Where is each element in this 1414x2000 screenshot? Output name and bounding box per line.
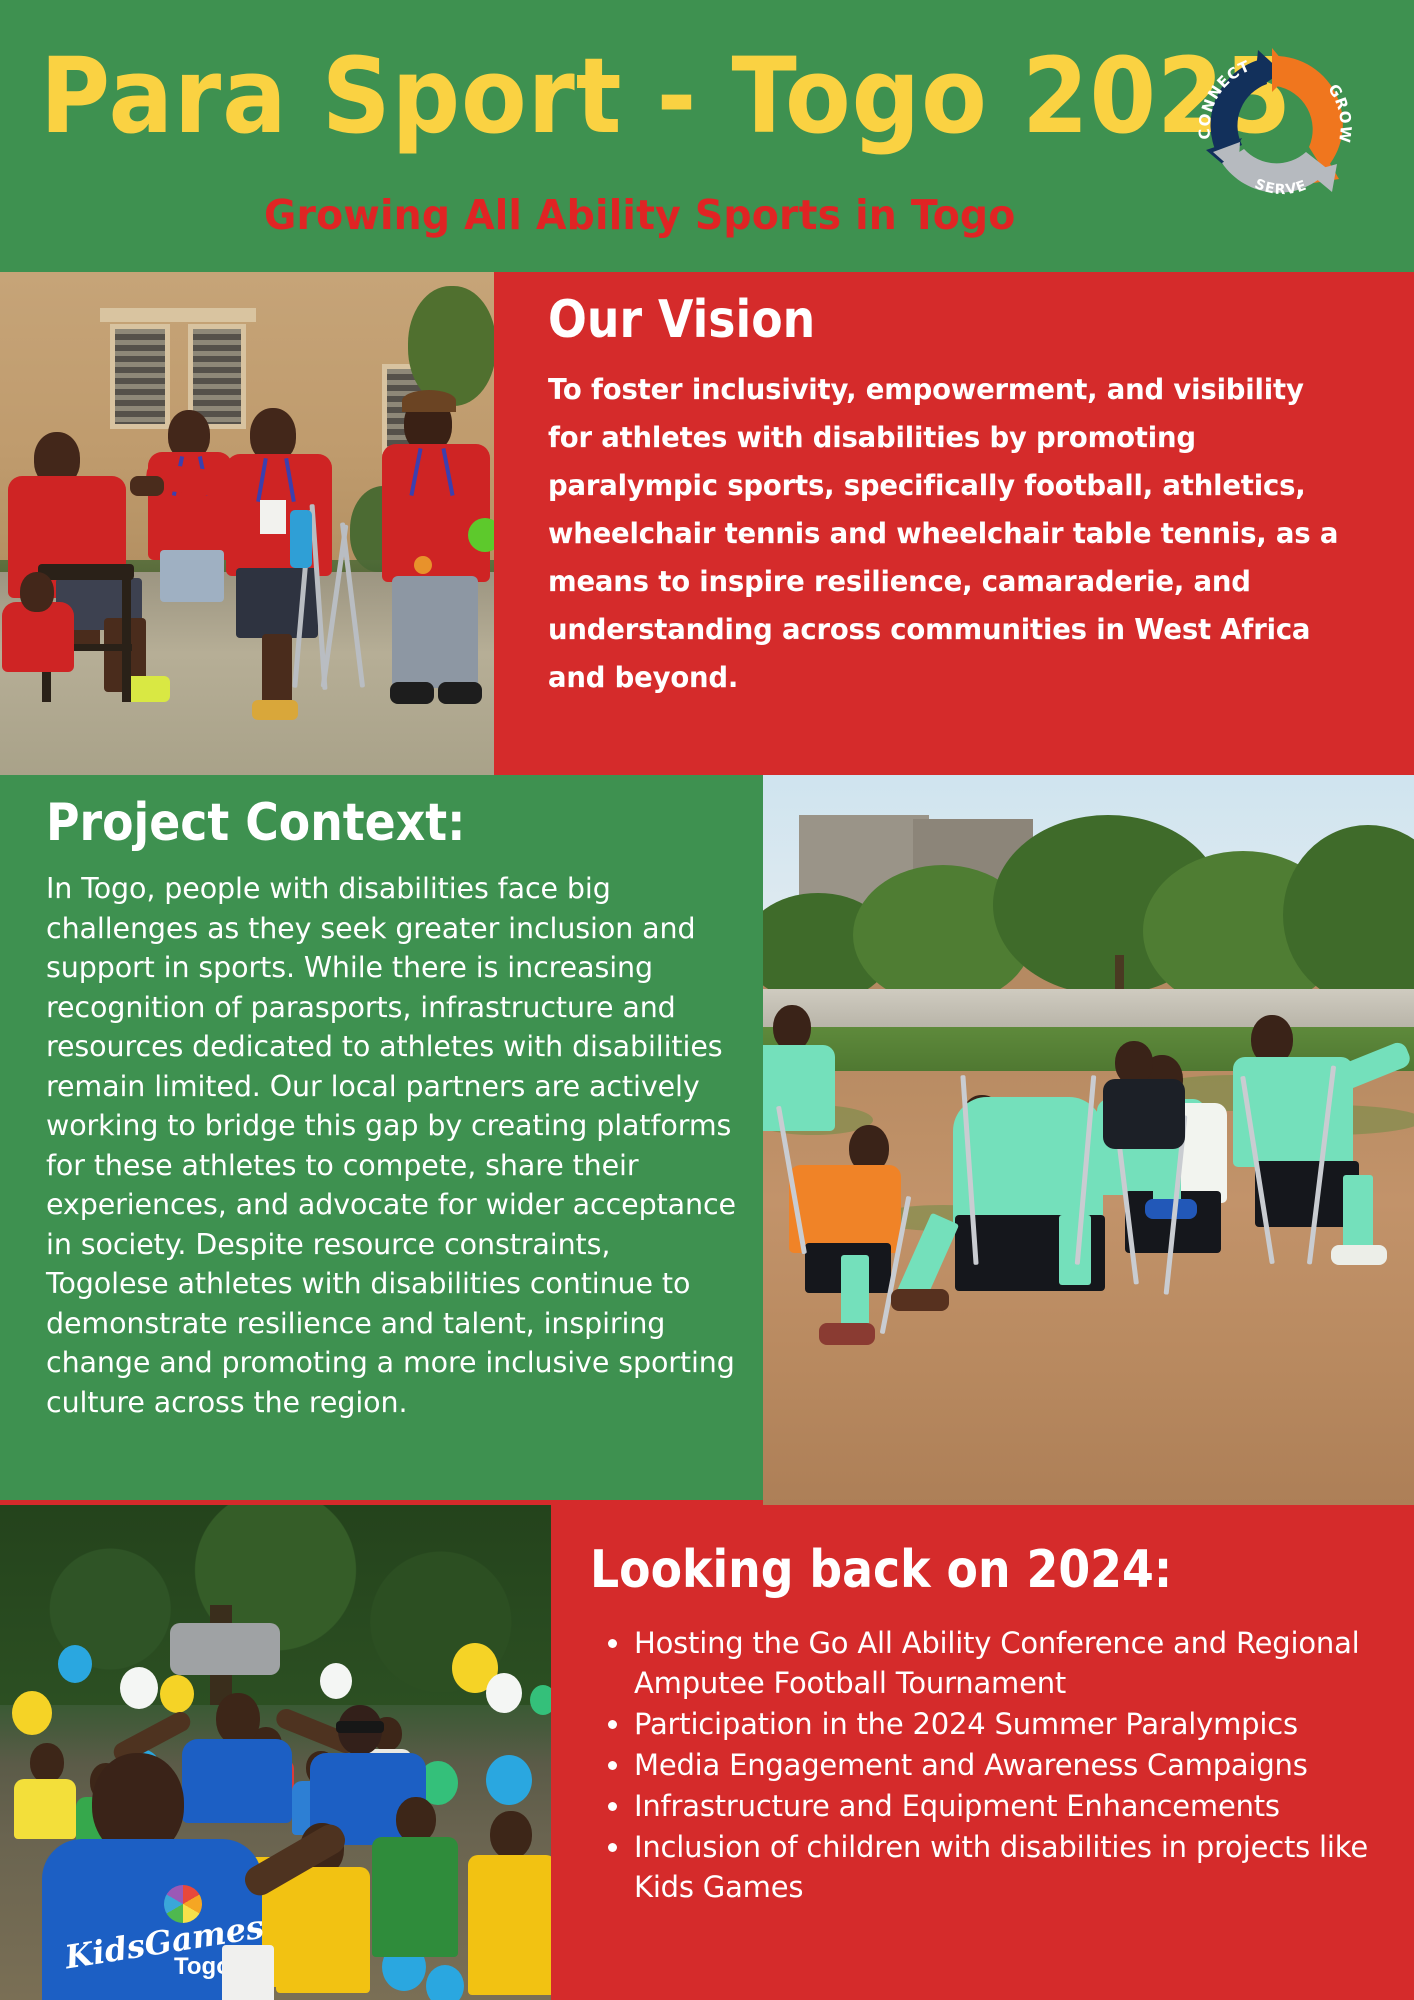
football-photo [763,775,1414,1505]
vision-section: Our Vision To foster inclusivity, empowe… [0,272,1414,775]
list-item: Inclusion of children with disabilities … [634,1827,1380,1907]
poster-header: Para Sport - Togo 2025 Growing All Abili… [0,0,1414,272]
looking-back-section: KidsGames Togo Looking back on 2024: Hos… [0,1505,1414,2000]
page-title: Para Sport - Togo 2025 [40,44,1292,148]
kids-games-photo: KidsGames Togo [0,1505,551,2000]
vision-text-block: Our Vision To foster inclusivity, empowe… [548,290,1368,702]
looking-back-list: Hosting the Go All Ability Conference an… [590,1623,1380,1907]
poster-root: Para Sport - Togo 2025 Growing All Abili… [0,0,1414,2000]
vision-heading: Our Vision [548,290,1270,350]
context-body-text: In Togo, people with disabilities face b… [46,869,736,1422]
connect-grow-serve-cycle-logo: CONNECT GROW SERVE [1196,46,1362,212]
page-subtitle: Growing All Ability Sports in Togo [28,192,1385,238]
list-item: Hosting the Go All Ability Conference an… [634,1623,1380,1703]
list-item: Participation in the 2024 Summer Paralym… [634,1704,1380,1744]
vision-body-text: To foster inclusivity, empowerment, and … [548,366,1339,702]
context-heading: Project Context: [46,793,653,853]
list-item: Infrastructure and Equipment Enhancement… [634,1786,1380,1826]
looking-back-heading: Looking back on 2024: [590,1539,1285,1601]
looking-back-text-block: Looking back on 2024: Hosting the Go All… [590,1539,1380,1908]
list-item: Media Engagement and Awareness Campaigns [634,1745,1380,1785]
context-text-block: Project Context: In Togo, people with di… [46,793,736,1422]
context-section: Project Context: In Togo, people with di… [0,775,1414,1505]
vision-photo [0,272,494,775]
